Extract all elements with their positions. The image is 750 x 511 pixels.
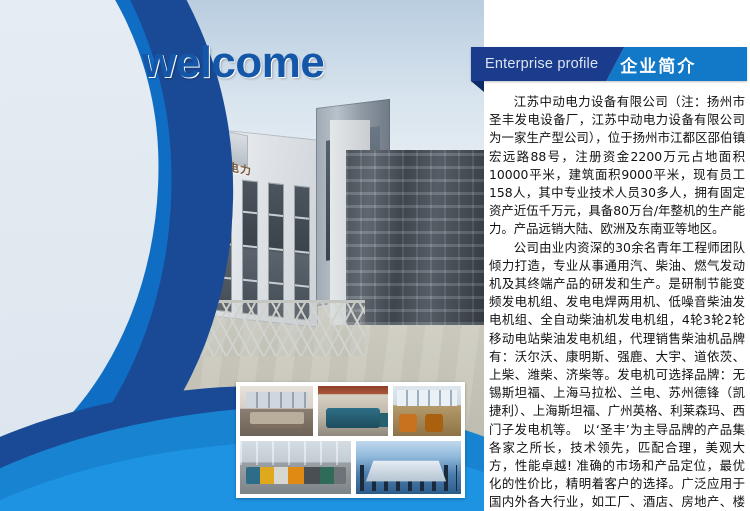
- adjacent-building-dark: [346, 150, 484, 325]
- office-photo: [392, 385, 462, 437]
- right-content-panel: Enterprise profile 企业简介 江苏中动电力设备有限公司（注：扬…: [484, 0, 750, 511]
- welcome-heading: welcome: [142, 38, 324, 88]
- photo-collage: [236, 382, 465, 498]
- generator-workshop-photo: [317, 385, 389, 437]
- factory-floor-photo: [239, 440, 352, 495]
- conference-room-photo: [355, 440, 462, 495]
- company-profile-text: 江苏中动电力设备有限公司（注：扬州市圣丰发电设备厂，江苏中动电力设备有限公司为一…: [489, 93, 745, 511]
- photo-collage-row-bottom: [239, 440, 462, 495]
- left-visual-panel: 中动电力: [0, 0, 484, 511]
- meeting-room-photo: [239, 385, 314, 437]
- photo-collage-row-top: [239, 385, 462, 437]
- page-root: 中动电力: [0, 0, 750, 511]
- ribbon-chinese-label: 企业简介: [606, 47, 747, 81]
- profile-paragraph-2: 公司由业内资深的30余名青年工程师团队倾力打造，专业从事通用汽、柴油、燃气发动机…: [489, 239, 745, 511]
- ribbon-english-label: Enterprise profile: [471, 47, 624, 81]
- profile-paragraph-1: 江苏中动电力设备有限公司（注：扬州市圣丰发电设备厂，江苏中动电力设备有限公司为一…: [489, 93, 745, 239]
- section-ribbon: Enterprise profile 企业简介: [471, 47, 747, 81]
